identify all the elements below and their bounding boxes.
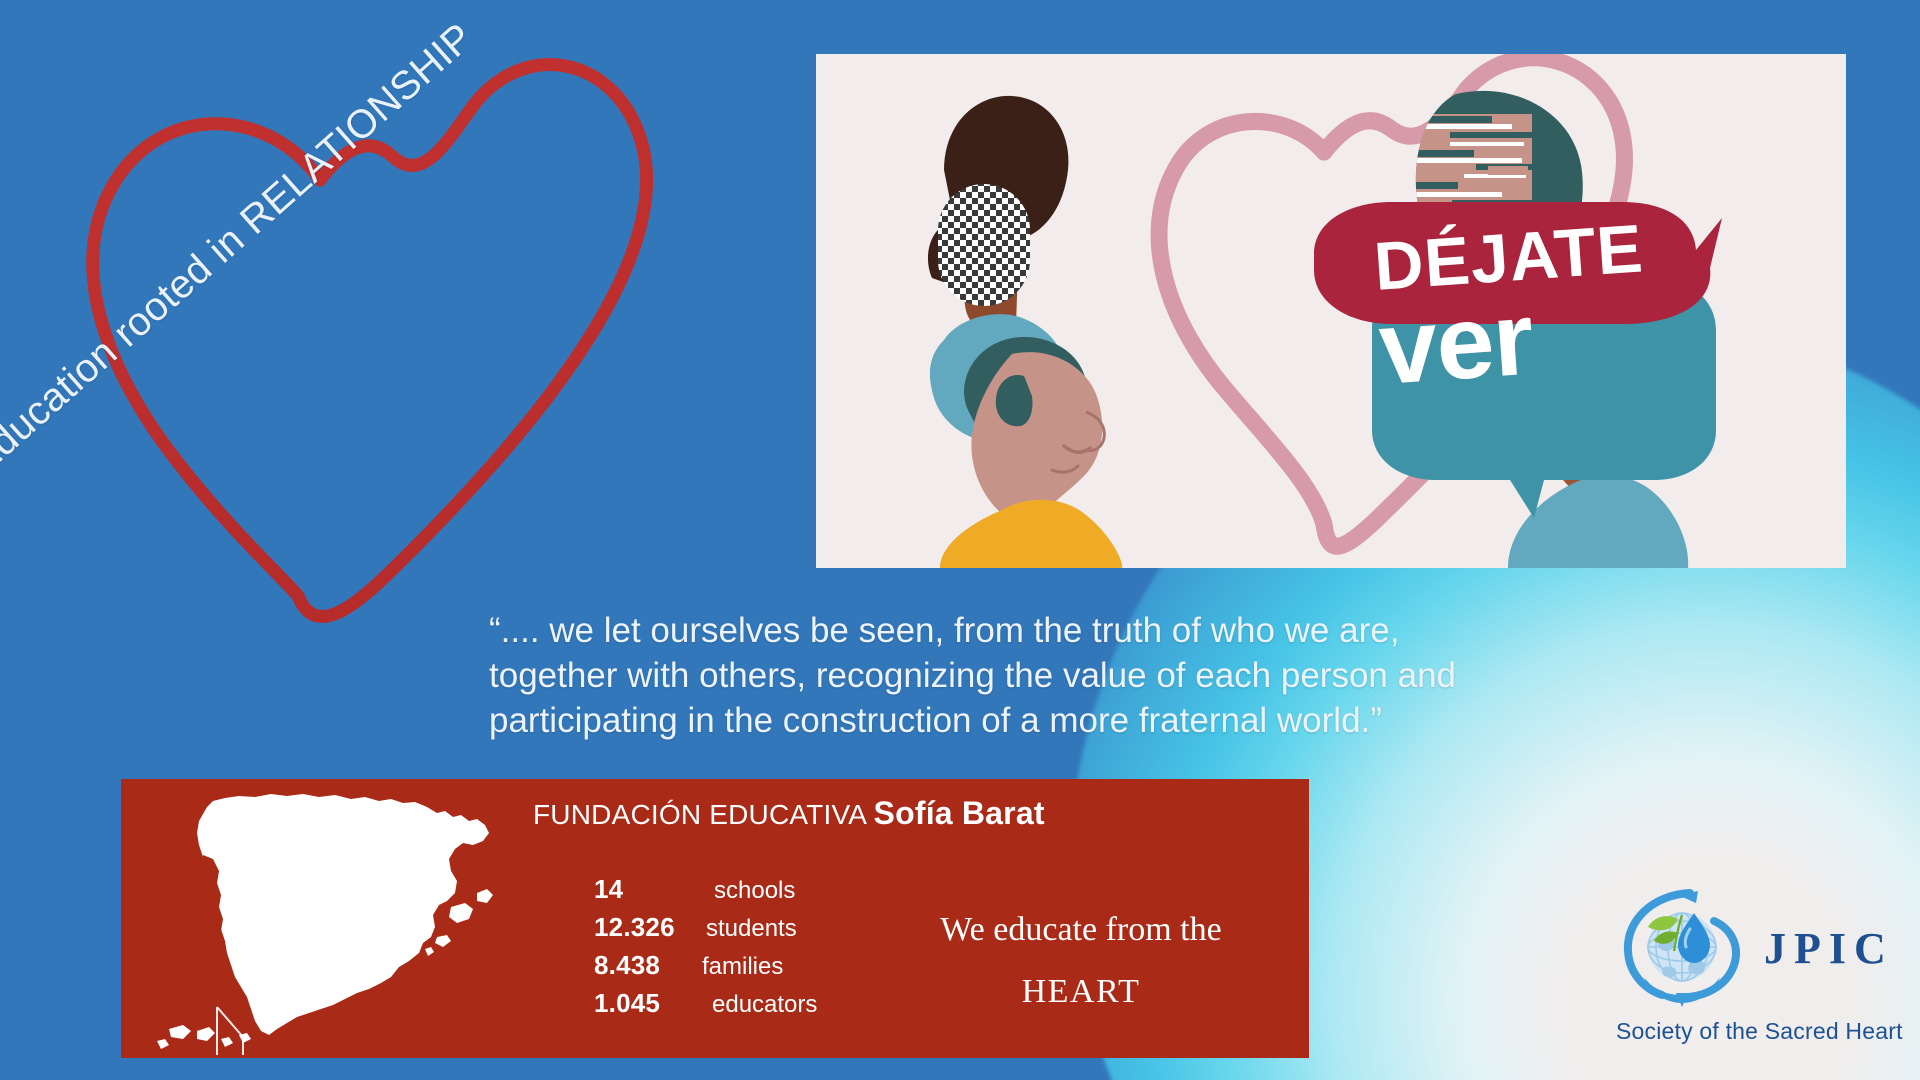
stat-row-educators: 1.045 educators [594, 988, 817, 1026]
motto-line-2: HEART [881, 961, 1281, 1023]
stat-row-schools: 14 schools [594, 874, 817, 912]
stat-label-schools: schools [702, 877, 795, 905]
quote-line-2: together with others, recognizing the va… [489, 653, 1669, 698]
jpic-logo: JPIC Society of the Sacred Heart [1600, 885, 1910, 1065]
jpic-globe-icon [1616, 885, 1748, 1013]
stat-number-schools: 14 [594, 874, 702, 905]
foundation-title-prefix: FUNDACIÓN EDUCATIVA [533, 799, 874, 830]
motto-text: We educate from the HEART [881, 899, 1281, 1023]
heart-outline-decoration [70, 40, 710, 660]
stat-row-families: 8.438 families [594, 950, 817, 988]
stat-label-families: families [702, 953, 783, 981]
quote-text: “.... we let ourselves be seen, from the… [489, 608, 1669, 743]
quote-line-1: “.... we let ourselves be seen, from the… [489, 608, 1669, 653]
foundation-title: FUNDACIÓN EDUCATIVA Sofía Barat [533, 795, 1045, 832]
quote-line-3: participating in the construction of a m… [489, 698, 1669, 743]
stat-number-families: 8.438 [594, 950, 702, 981]
jpic-tagline: Society of the Sacred Heart [1616, 1018, 1903, 1045]
foundation-banner: FUNDACIÓN EDUCATIVA Sofía Barat 14 schoo… [121, 779, 1309, 1058]
stat-row-students: 12.326 students [594, 912, 817, 950]
motto-line-1: We educate from the [881, 899, 1281, 961]
jpic-wordmark: JPIC [1764, 923, 1894, 974]
illustration-panel: DÉJATE ver [816, 54, 1846, 568]
stat-label-educators: educators [702, 991, 817, 1019]
statistics-list: 14 schools 12.326 students 8.438 familie… [594, 874, 817, 1026]
bubble-text-ver: ver [1376, 281, 1537, 407]
stat-number-students: 12.326 [594, 912, 702, 943]
spain-map [151, 785, 531, 1055]
stat-label-students: students [702, 915, 797, 943]
foundation-title-name: Sofía Barat [874, 795, 1045, 831]
stat-number-educators: 1.045 [594, 988, 702, 1019]
slide-canvas: Education rooted in RELATIONSHIP [0, 0, 1920, 1080]
